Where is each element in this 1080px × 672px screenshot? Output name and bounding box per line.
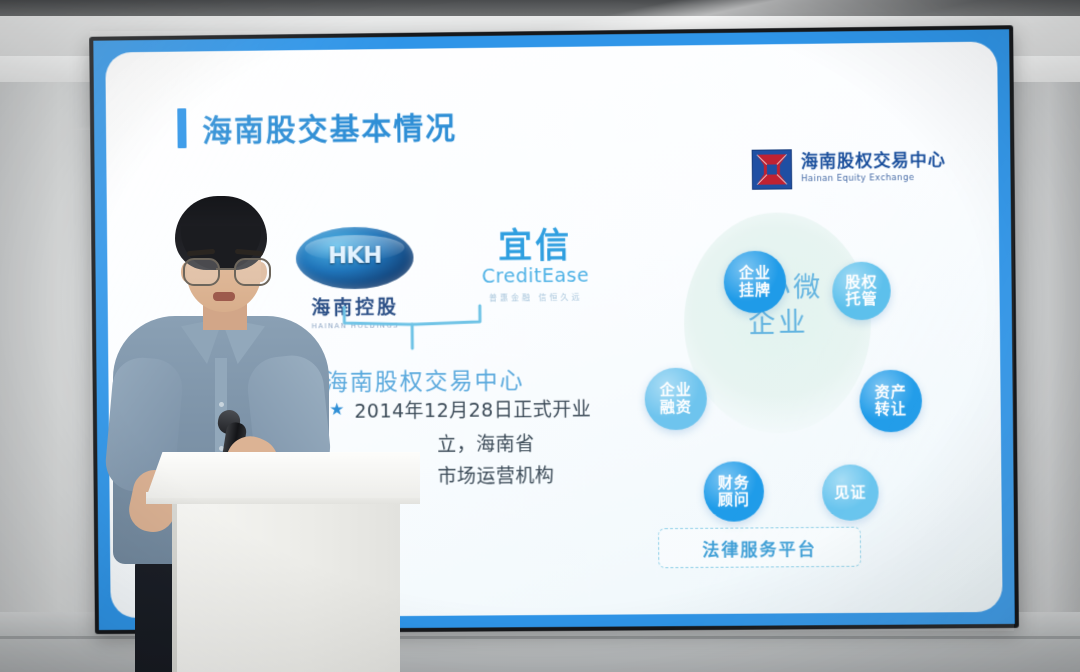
title-accent-bar [177, 108, 186, 148]
service-bubble-label: 资产转让 [874, 384, 907, 418]
body-heading: 海南股权交易中心 [325, 361, 525, 397]
service-bubble-1: 企业挂牌 [724, 251, 787, 314]
body-line-partial-2: 市场运营机构 [437, 461, 554, 489]
photo-scene: 海南股交基本情况 海南股权交易中心 Hainan Equity Exchange… [0, 0, 1080, 672]
service-bubble-3: 企业融资 [644, 368, 707, 431]
slide-title-row: 海南股交基本情况 [177, 103, 457, 150]
partner2-en: CreditEase [460, 264, 610, 288]
service-bubble-label: 见证 [834, 484, 866, 501]
service-bubble-2: 股权托管 [832, 262, 891, 321]
service-bubble-label: 财务顾问 [718, 475, 750, 509]
body-line-partial-1: 立，海南省 [437, 429, 535, 457]
page-title: 海南股交基本情况 [202, 103, 457, 150]
services-diagram: 中小微 企业 企业挂牌股权托管企业融资资产转让财务顾问见证 法律服务平台 [604, 153, 939, 577]
podium-edge [172, 502, 177, 672]
legal-service-platform-badge: 法律服务平台 [658, 527, 861, 569]
eyeglasses-icon [183, 258, 267, 282]
bullet-text: 2014年12月28日正式开业 [354, 395, 591, 424]
brace-connector-icon [338, 300, 486, 353]
service-bubble-label: 股权托管 [845, 274, 878, 308]
service-bubble-6: 见证 [822, 464, 879, 521]
speaker-mouth [213, 292, 235, 301]
podium-body [172, 502, 400, 672]
partner2-cn: 宜信 [460, 228, 610, 264]
service-bubble-5: 财务顾问 [703, 461, 764, 522]
podium-top [146, 452, 420, 498]
service-bubble-label: 企业融资 [660, 382, 692, 416]
bullet-item: ★ 2014年12月28日正式开业 [329, 395, 591, 424]
partner-logo-creditease: 宜信 CreditEase 普惠金融 信恒久远 [460, 228, 611, 304]
service-bubble-label: 企业挂牌 [739, 265, 771, 299]
podium [146, 452, 420, 672]
service-bubble-4: 资产转让 [859, 370, 922, 433]
